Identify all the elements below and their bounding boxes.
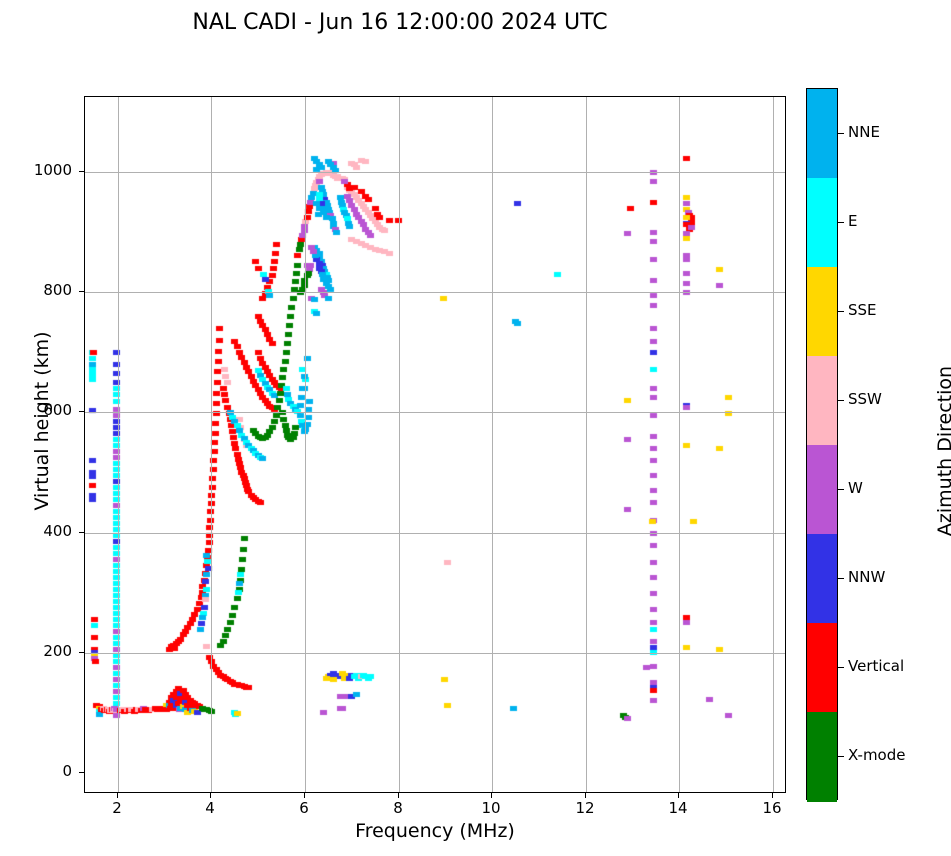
x-axis-tick (772, 793, 773, 798)
x-axis-tick-label: 16 (752, 799, 792, 817)
colorbar-label-sse: SSE (848, 301, 877, 319)
x-axis-tick (398, 793, 399, 798)
page-title: NAL CADI - Jun 16 12:00:00 2024 UTC (0, 10, 800, 35)
grid-line-vertical (773, 97, 774, 792)
x-axis-tick (678, 793, 679, 798)
grid-line-horizontal (85, 172, 785, 173)
y-axis-tick-label: 200 (10, 642, 72, 660)
y-axis-tick-label: 0 (10, 762, 72, 780)
colorbar-tick (838, 400, 844, 401)
colorbar-label-ssw: SSW (848, 390, 882, 408)
plot-area[interactable] (84, 96, 786, 793)
grid-line-vertical (211, 97, 212, 792)
x-axis-tick-label: 6 (284, 799, 324, 817)
y-axis-tick (79, 652, 84, 653)
y-axis-tick-label: 1000 (10, 161, 72, 179)
colorbar-tick (838, 489, 844, 490)
x-axis-tick-label: 8 (378, 799, 418, 817)
colorbar-label-x-mode: X-mode (848, 746, 905, 764)
colorbar-segment-sse[interactable] (807, 267, 837, 357)
ionogram-figure: NAL CADI - Jun 16 12:00:00 2024 UTC 2468… (0, 0, 951, 856)
colorbar-label-vertical: Vertical (848, 657, 904, 675)
scatter-data-canvas (85, 97, 786, 793)
colorbar-tick (838, 756, 844, 757)
x-axis-tick (117, 793, 118, 798)
grid-line-vertical (118, 97, 119, 792)
x-axis-tick-label: 10 (471, 799, 511, 817)
azimuth-colorbar[interactable] (806, 88, 838, 800)
x-axis-tick (210, 793, 211, 798)
colorbar-tick (838, 222, 844, 223)
grid-line-vertical (492, 97, 493, 792)
colorbar-label-nne: NNE (848, 123, 880, 141)
y-axis-tick (79, 411, 84, 412)
y-axis-tick (79, 171, 84, 172)
colorbar-tick (838, 133, 844, 134)
grid-line-vertical (399, 97, 400, 792)
y-axis-label: Virtual height (km) (31, 241, 53, 601)
x-axis-tick-label: 4 (190, 799, 230, 817)
colorbar-label-nnw: NNW (848, 568, 885, 586)
y-axis-tick (79, 532, 84, 533)
grid-line-horizontal (85, 412, 785, 413)
colorbar-segment-vertical[interactable] (807, 623, 837, 713)
x-axis-tick-label: 14 (658, 799, 698, 817)
colorbar-segment-e[interactable] (807, 178, 837, 268)
colorbar-segment-ssw[interactable] (807, 356, 837, 446)
colorbar-tick (838, 311, 844, 312)
colorbar-segment-x-mode[interactable] (807, 712, 837, 802)
grid-line-horizontal (85, 533, 785, 534)
colorbar-tick (838, 667, 844, 668)
grid-line-horizontal (85, 653, 785, 654)
x-axis-tick (585, 793, 586, 798)
colorbar-segment-w[interactable] (807, 445, 837, 535)
grid-line-vertical (305, 97, 306, 792)
x-axis-label: Frequency (MHz) (84, 820, 786, 842)
colorbar-title: Azimuth Direction (934, 251, 951, 651)
colorbar-label-w: W (848, 479, 863, 497)
y-axis-tick (79, 291, 84, 292)
y-axis-tick (79, 772, 84, 773)
colorbar-tick (838, 578, 844, 579)
grid-line-vertical (679, 97, 680, 792)
colorbar-label-e: E (848, 212, 857, 230)
x-axis-tick (491, 793, 492, 798)
x-axis-tick (304, 793, 305, 798)
x-axis-tick-label: 2 (97, 799, 137, 817)
x-axis-tick-label: 12 (565, 799, 605, 817)
grid-line-vertical (586, 97, 587, 792)
grid-line-horizontal (85, 292, 785, 293)
colorbar-segment-nnw[interactable] (807, 534, 837, 624)
colorbar-segment-nne[interactable] (807, 89, 837, 179)
